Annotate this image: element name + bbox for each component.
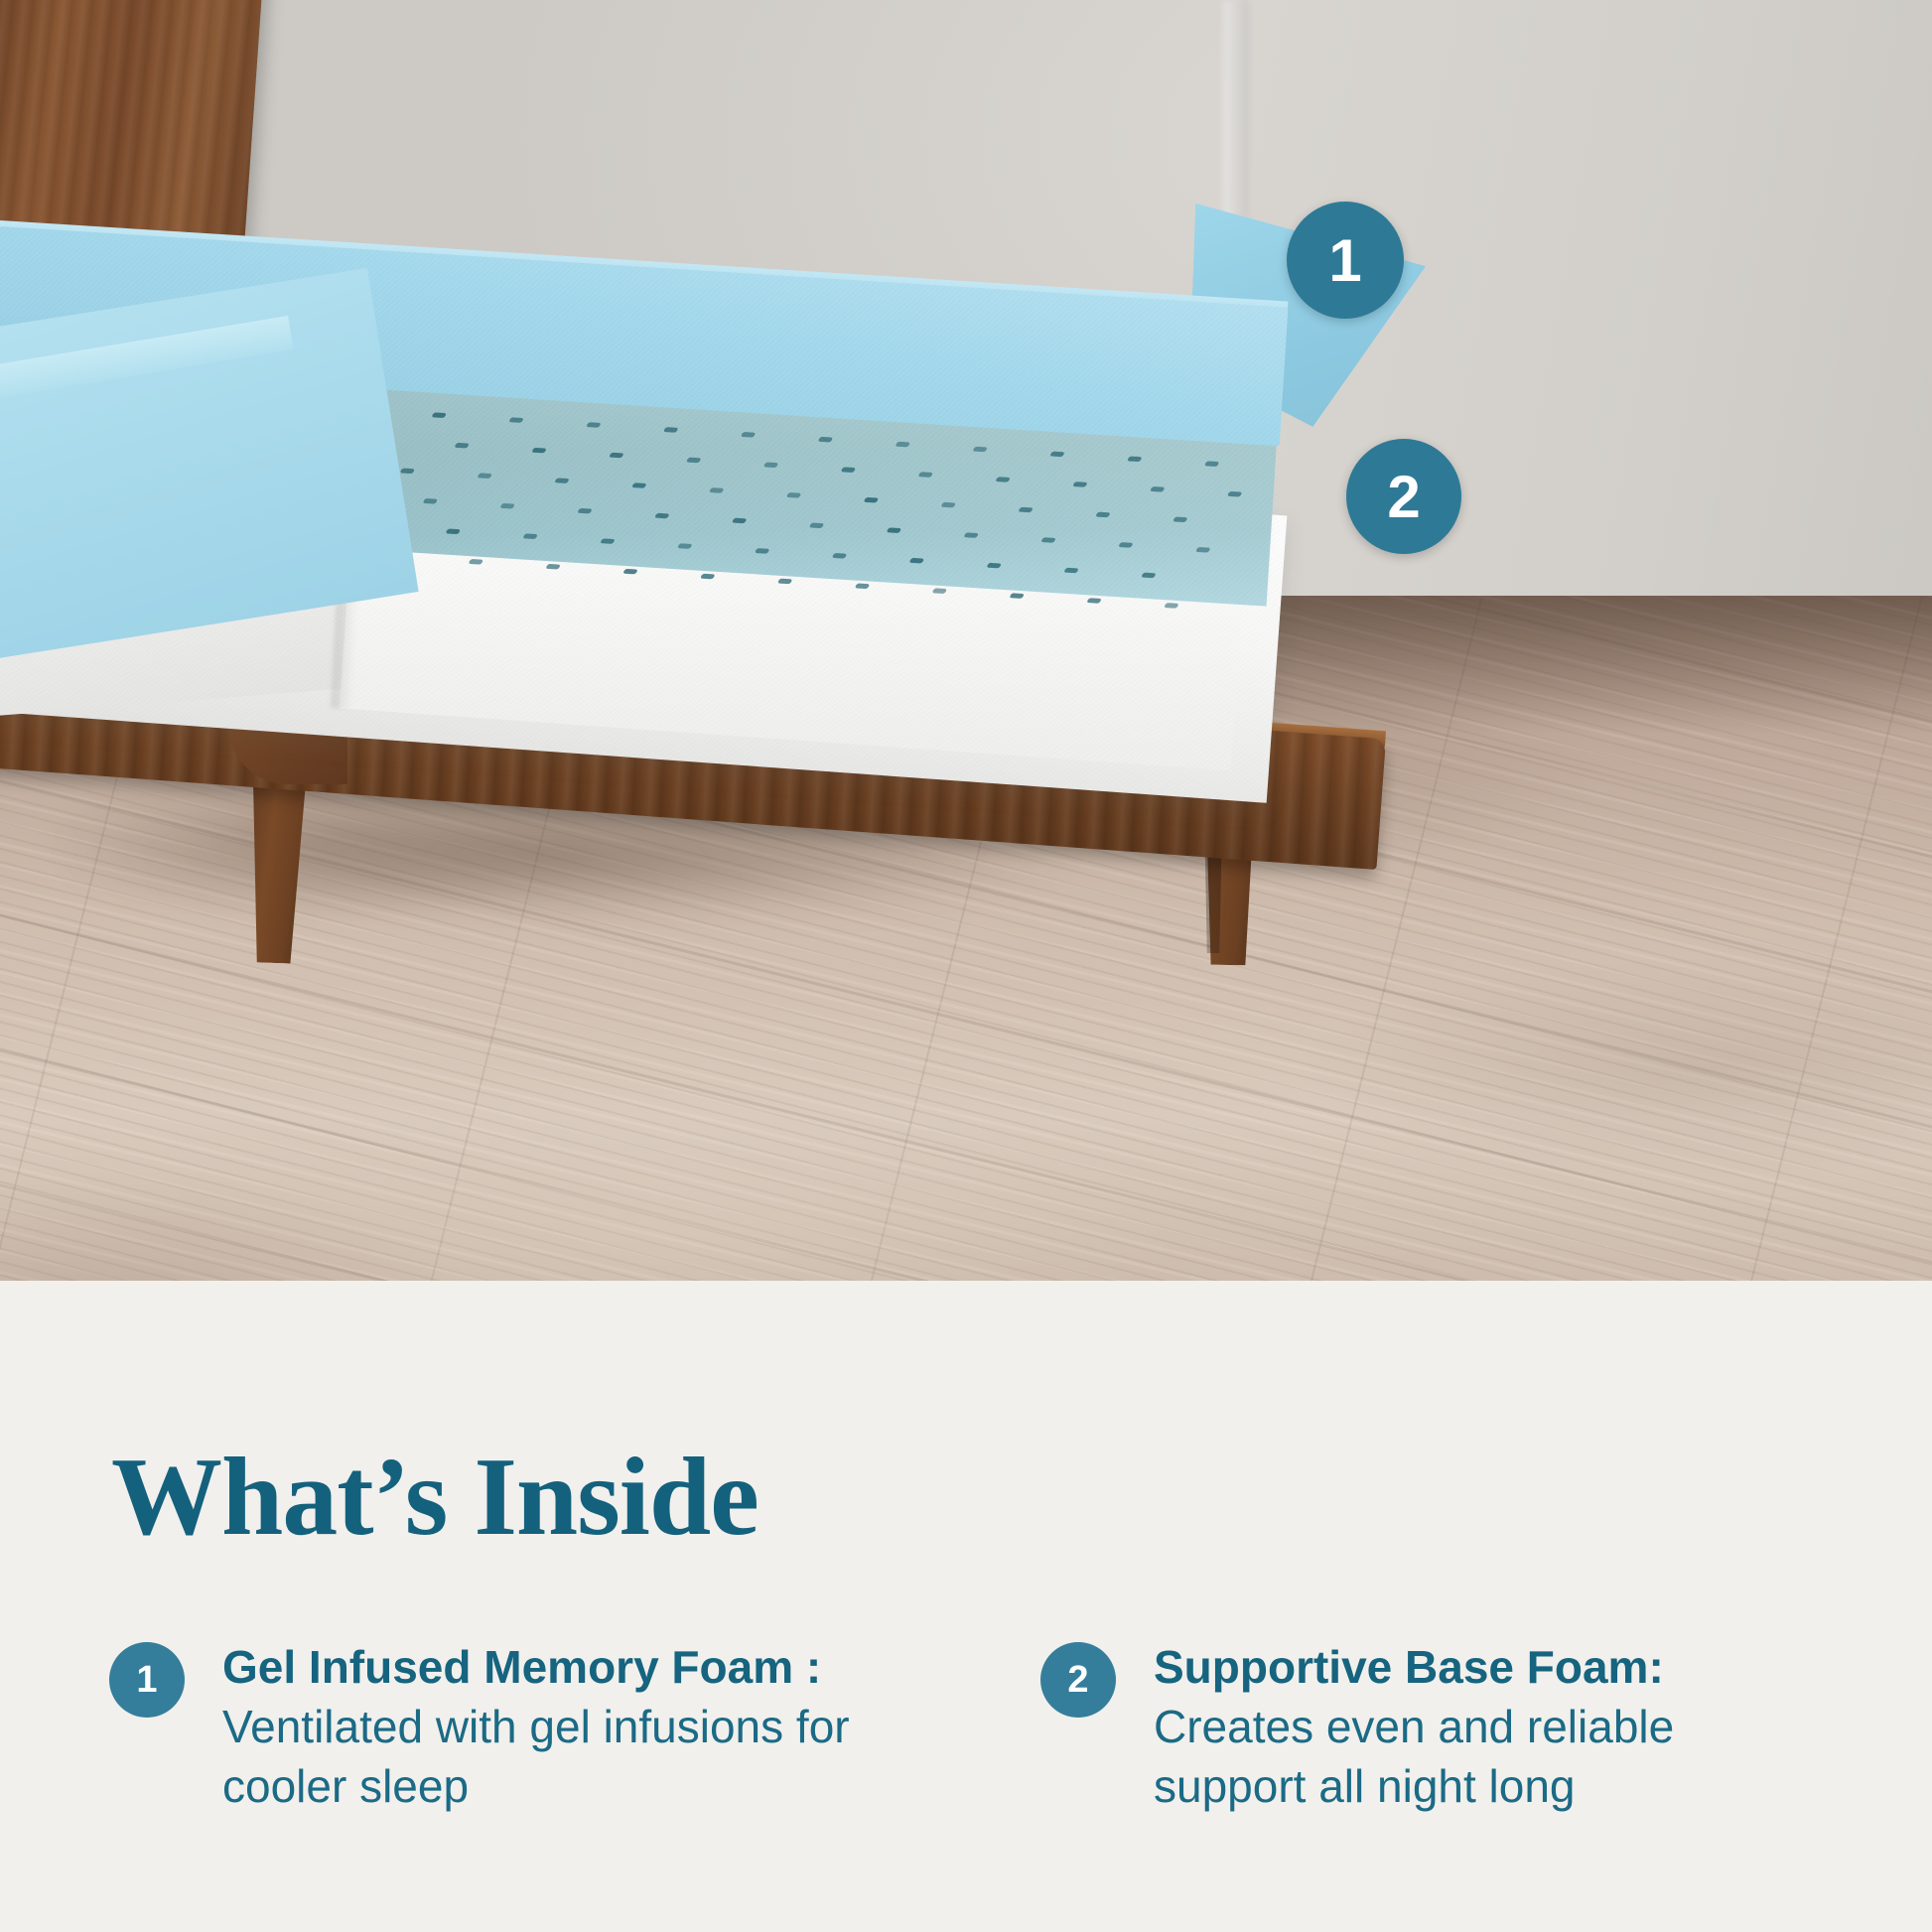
feature-badge-number-2: 2: [1067, 1661, 1088, 1699]
feature-item-2: 2 Supportive Base Foam: Creates even and…: [1040, 1638, 1825, 1816]
ventilation-hole: [1173, 516, 1188, 522]
feature-body-2: Creates even and reliable support all ni…: [1154, 1701, 1674, 1812]
ventilation-hole: [763, 462, 779, 468]
ventilation-hole: [895, 442, 910, 448]
ventilation-hole: [755, 548, 770, 554]
feature-text-1: Gel Infused Memory Foam : Ventilated wit…: [222, 1638, 858, 1816]
ventilation-hole: [454, 443, 470, 449]
ventilation-hole: [1049, 452, 1065, 458]
ventilation-hole: [577, 508, 593, 514]
ventilation-hole: [1127, 456, 1143, 462]
ventilation-hole: [986, 563, 1002, 569]
ventilation-hole: [1063, 568, 1079, 574]
ventilation-hole: [786, 492, 802, 498]
ventilation-hole: [818, 437, 834, 443]
ventilation-hole: [477, 473, 492, 479]
feature-text-2: Supportive Base Foam: Creates even and r…: [1154, 1638, 1789, 1816]
ventilation-hole: [1195, 547, 1211, 553]
feature-title-2: Supportive Base Foam:: [1154, 1641, 1664, 1693]
ventilation-hole: [864, 497, 880, 503]
ventilation-hole: [677, 543, 693, 549]
photo-callout-number-2: 2: [1387, 463, 1420, 531]
ventilation-hole: [586, 422, 602, 428]
ventilation-hole: [1118, 542, 1134, 548]
ventilation-hole: [600, 538, 616, 544]
photo-callout-number-1: 1: [1328, 226, 1361, 295]
ventilation-hole: [741, 432, 757, 438]
feature-badge-number-1: 1: [136, 1661, 157, 1699]
ventilation-hole: [609, 453, 624, 459]
photo-callout-badge-1: 1: [1287, 202, 1404, 319]
infographic-stage: 1 2 What’s Inside 1 Gel Infused Memory F…: [0, 0, 1932, 1932]
ventilation-hole: [431, 412, 447, 418]
ventilation-hole: [709, 487, 725, 493]
feature-title-1: Gel Infused Memory Foam :: [222, 1641, 821, 1693]
page-title: What’s Inside: [111, 1442, 759, 1553]
ventilation-hole: [1086, 598, 1102, 604]
wave-divider: [0, 1277, 1932, 1406]
ventilation-hole: [554, 478, 570, 483]
ventilation-hole: [508, 417, 524, 423]
ventilation-hole: [1164, 603, 1179, 609]
ventilation-hole: [940, 502, 956, 508]
ventilation-hole: [909, 558, 925, 564]
ventilation-hole: [1095, 512, 1111, 518]
ventilation-hole: [499, 503, 515, 509]
ventilation-hole: [445, 529, 461, 535]
ventilation-hole: [531, 448, 547, 454]
ventilation-hole: [931, 588, 947, 594]
ventilation-hole: [732, 518, 748, 524]
ventilation-hole: [832, 553, 848, 559]
ventilation-hole: [841, 467, 857, 473]
ventilation-hole: [1009, 593, 1025, 599]
ventilation-hole: [995, 477, 1011, 483]
ventilation-hole: [631, 483, 647, 488]
ventilation-hole: [399, 468, 415, 474]
ventilation-hole: [654, 513, 670, 519]
ventilation-hole: [1227, 491, 1243, 497]
ventilation-hole: [1040, 537, 1056, 543]
ventilation-hole: [622, 569, 638, 575]
ventilation-hole: [887, 527, 902, 533]
ventilation-hole: [686, 458, 702, 464]
ventilation-hole: [777, 579, 793, 585]
photo-callout-badge-2: 2: [1346, 439, 1461, 554]
feature-body-1: Ventilated with gel infusions for cooler…: [222, 1701, 850, 1812]
ventilation-hole: [1141, 573, 1157, 579]
ventilation-hole: [522, 533, 538, 539]
ventilation-hole: [1018, 507, 1034, 513]
feature-badge-2: 2: [1040, 1642, 1116, 1718]
ventilation-hole: [700, 574, 716, 580]
ventilation-hole: [422, 498, 438, 504]
product-photo: 1 2: [0, 0, 1932, 1390]
ventilation-hole: [468, 559, 483, 565]
ventilation-hole: [972, 447, 988, 453]
ventilation-hole: [963, 532, 979, 538]
ventilation-hole: [855, 583, 871, 589]
ventilation-hole: [809, 522, 825, 528]
ventilation-hole: [545, 564, 561, 570]
ventilation-hole: [663, 427, 679, 433]
ventilation-hole: [1204, 461, 1220, 467]
feature-list: 1 Gel Infused Memory Foam : Ventilated w…: [0, 1638, 1932, 1816]
feature-badge-1: 1: [109, 1642, 185, 1718]
ventilation-hole: [1072, 482, 1088, 487]
feature-item-1: 1 Gel Infused Memory Foam : Ventilated w…: [109, 1638, 894, 1816]
ventilation-hole: [917, 472, 933, 478]
ventilation-hole: [1150, 486, 1166, 492]
